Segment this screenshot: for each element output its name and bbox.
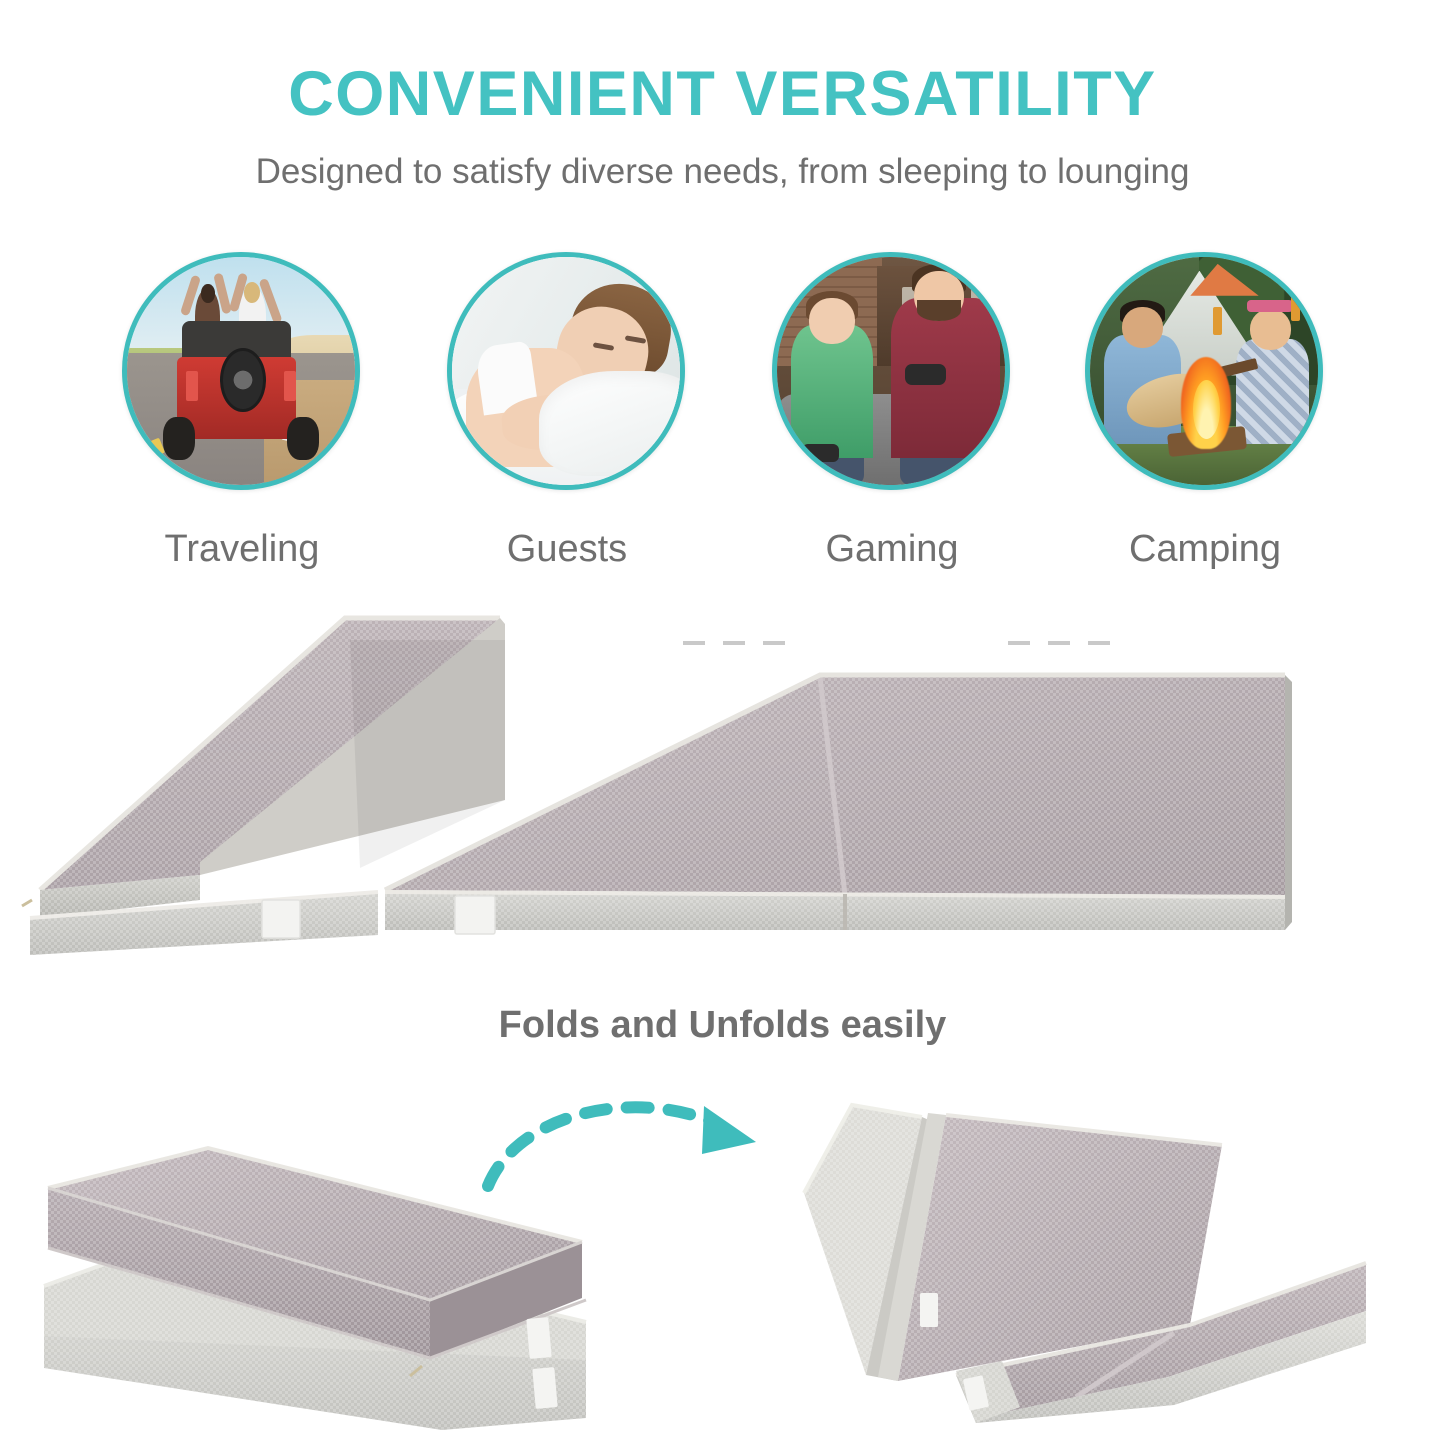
usecase-label-camping: Camping	[1085, 528, 1325, 571]
usecase-label-gaming: Gaming	[772, 528, 1012, 571]
page-title: CONVENIENT VERSATILITY	[0, 58, 1445, 130]
usecase-traveling[interactable]: Traveling	[122, 252, 362, 571]
father-son-gaming-icon	[777, 257, 1005, 485]
usecase-gaming[interactable]: Gaming	[772, 252, 1012, 571]
infographic-page: CONVENIENT VERSATILITY Designed to satis…	[0, 0, 1445, 1445]
usecase-guests[interactable]: Guests	[447, 252, 687, 571]
folded-stack-image	[30, 1130, 610, 1430]
gaming-photo-circle	[772, 252, 1010, 490]
usecase-camping[interactable]: Camping	[1085, 252, 1325, 571]
woman-sleeping-icon	[452, 257, 680, 485]
page-subtitle: Designed to satisfy diverse needs, from …	[0, 152, 1445, 192]
hero-mattress-svg	[0, 600, 1445, 1000]
usecase-label-guests: Guests	[447, 528, 687, 571]
campfire-icon	[1090, 257, 1318, 485]
traveling-photo-circle	[122, 252, 360, 490]
camping-photo-circle	[1085, 252, 1323, 490]
hero-mattress-image	[0, 600, 1445, 1000]
usecase-row: Traveling Guests	[0, 252, 1445, 592]
guests-photo-circle	[447, 252, 685, 490]
chair-fold-image	[770, 1075, 1390, 1425]
folds-heading: Folds and Unfolds easily	[0, 1004, 1445, 1047]
jeep-road-trip-icon	[127, 257, 355, 485]
usecase-label-traveling: Traveling	[122, 528, 362, 571]
